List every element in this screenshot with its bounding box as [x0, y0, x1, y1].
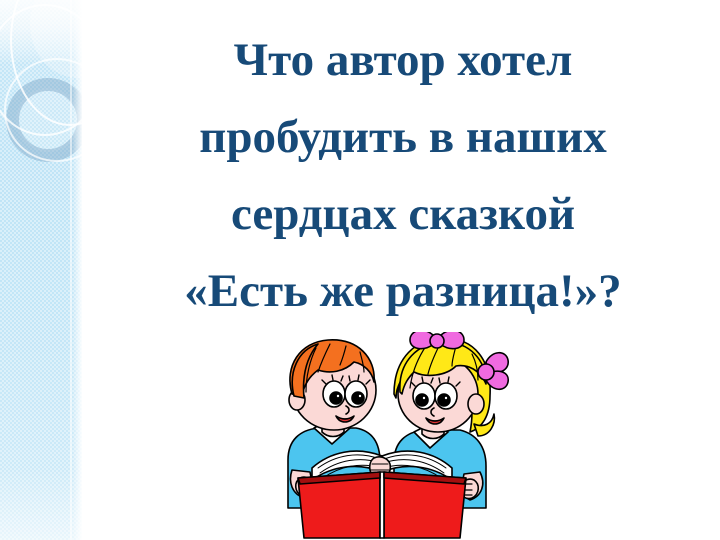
girl-pupil-left	[416, 394, 428, 406]
boy-pupil-right	[352, 392, 364, 404]
band-edge-fade	[72, 0, 82, 540]
children-reading-svg	[248, 332, 516, 540]
girl-pupil-right	[438, 394, 450, 406]
boy-eye-glint-right	[358, 394, 362, 398]
boy-lash-2	[332, 375, 333, 380]
girl-ear	[468, 394, 484, 414]
boy-lash-4	[349, 376, 350, 381]
title-line-2: пробудить в наших	[96, 99, 710, 176]
girl-bow-top-icon	[410, 332, 464, 349]
page-title: Что автор хотел пробудить в наших сердца…	[96, 22, 710, 330]
boy-lash-5	[358, 375, 359, 380]
children-reading-illustration	[248, 332, 516, 540]
girl-lash-5	[448, 377, 449, 382]
girl-eye-glint-left	[422, 396, 426, 400]
girl-eye-glint-right	[444, 396, 448, 400]
girl-lash-2	[422, 377, 423, 382]
title-line-4: «Есть же разница!»?	[96, 253, 710, 330]
left-decorative-band	[0, 0, 82, 540]
slide-canvas: Что автор хотел пробудить в наших сердца…	[0, 0, 720, 540]
title-line-1: Что автор хотел	[96, 22, 710, 99]
boy-eye-glint-left	[336, 394, 340, 398]
girl-lash-4	[439, 378, 440, 383]
boy-pupil-left	[330, 392, 342, 404]
book-spine	[380, 472, 384, 538]
title-line-3: сердцах сказкой	[96, 176, 710, 253]
